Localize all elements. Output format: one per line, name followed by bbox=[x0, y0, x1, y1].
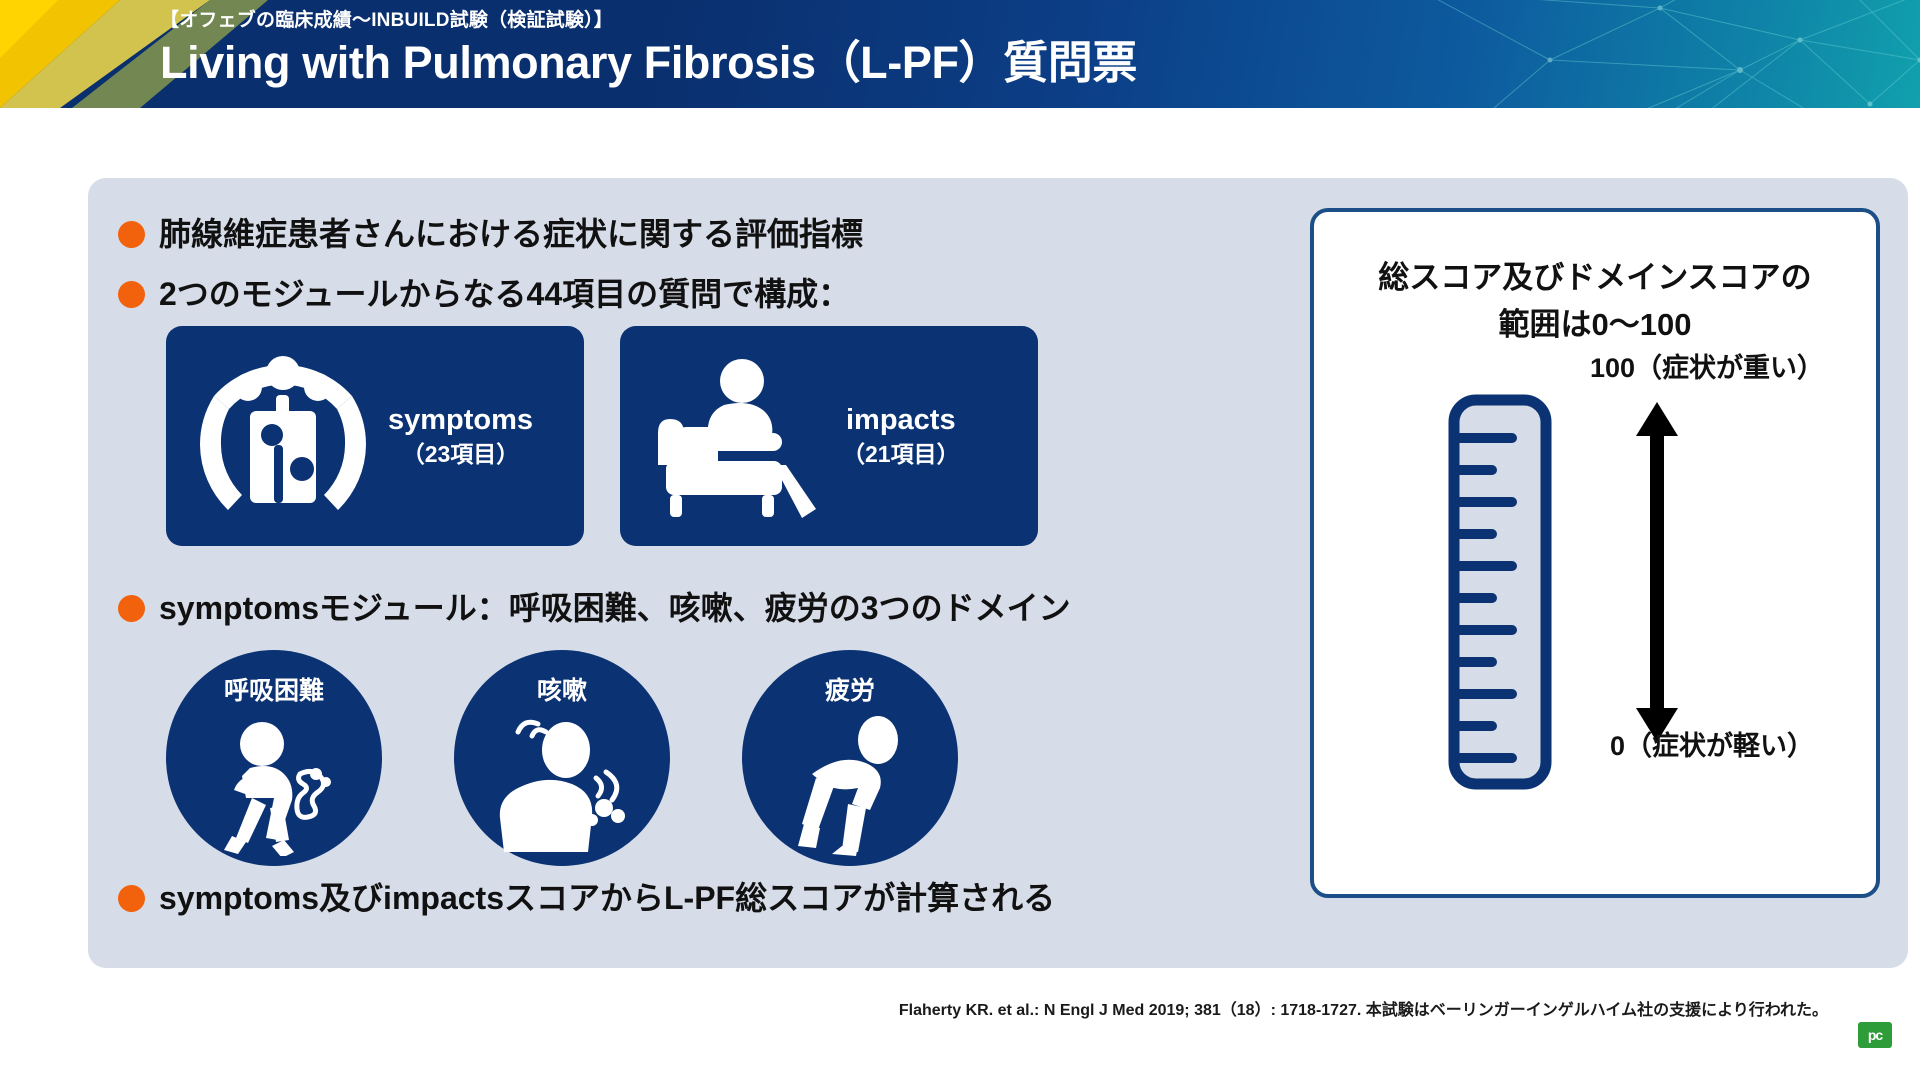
bullet-dot-icon bbox=[118, 595, 145, 622]
bullet-item-2: 2つのモジュールからなる44項目の質問で構成： bbox=[118, 274, 850, 314]
domain-circle-group: 呼吸困難 咳嗽 bbox=[166, 650, 958, 866]
domain-circle-dyspnea[interactable]: 呼吸困難 bbox=[166, 650, 382, 866]
bullet-dot-icon bbox=[118, 221, 145, 248]
bullet-label-4: symptoms及びimpactsスコアからL-PF総スコアが計算される bbox=[159, 878, 1055, 918]
network-pattern-decoration bbox=[1400, 0, 1920, 108]
bullet-item-3: symptomsモジュール：呼吸困難、咳嗽、疲労の3つのドメイン bbox=[118, 588, 1071, 628]
bullet-label-2: 2つのモジュールからなる44項目の質問で構成： bbox=[159, 274, 850, 314]
module-card-symptoms[interactable]: symptoms （23項目） bbox=[166, 326, 584, 546]
ruler-scale-icon bbox=[1446, 392, 1566, 792]
domain-label: 咳嗽 bbox=[537, 676, 587, 706]
module-card-impacts[interactable]: impacts （21項目） bbox=[620, 326, 1038, 546]
lungs-person-icon bbox=[188, 349, 378, 524]
domain-circle-fatigue[interactable]: 疲労 bbox=[742, 650, 958, 866]
score-card-title-line2: 範囲は0〜100 bbox=[1314, 301, 1876, 348]
slide-header: 【オフェブの臨床成績～INBUILD試験（検証試験）】 Living with … bbox=[0, 0, 1920, 108]
domain-circle-cough[interactable]: 咳嗽 bbox=[454, 650, 670, 866]
content-panel: 肺線維症患者さんにおける症状に関する評価指標 2つのモジュールからなる44項目の… bbox=[88, 178, 1908, 968]
score-card-title-line1: 総スコア及びドメインスコアの bbox=[1314, 254, 1876, 301]
score-card-title: 総スコア及びドメインスコアの 範囲は0〜100 bbox=[1314, 254, 1876, 348]
module-card-group: symptoms （23項目） bbox=[166, 326, 1038, 546]
bullet-dot-icon bbox=[118, 281, 145, 308]
person-in-armchair-icon bbox=[642, 349, 832, 524]
score-low-label: 0（症状が軽い） bbox=[1610, 724, 1814, 763]
bullet-item-1: 肺線維症患者さんにおける症状に関する評価指標 bbox=[118, 214, 863, 254]
module-count: （23項目） bbox=[388, 438, 533, 470]
double-headed-vertical-arrow-icon bbox=[1634, 402, 1680, 742]
header-kicker: 【オフェブの臨床成績～INBUILD試験（検証試験）】 bbox=[160, 8, 1137, 34]
slide-root: 【オフェブの臨床成績～INBUILD試験（検証試験）】 Living with … bbox=[0, 0, 1920, 1080]
score-range-card: 総スコア及びドメインスコアの 範囲は0〜100 bbox=[1310, 208, 1880, 898]
module-name: symptoms bbox=[388, 402, 533, 438]
bullet-item-4: symptoms及びimpactsスコアからL-PF総スコアが計算される bbox=[118, 878, 1055, 918]
fatigued-person-icon bbox=[742, 716, 958, 856]
header-title: Living with Pulmonary Fibrosis（L-PF）質問票 bbox=[160, 34, 1137, 92]
domain-label: 疲労 bbox=[825, 676, 875, 706]
module-name: impacts bbox=[842, 402, 960, 438]
bullet-dot-icon bbox=[118, 885, 145, 912]
bullet-label-3: symptomsモジュール：呼吸困難、咳嗽、疲労の3つのドメイン bbox=[159, 588, 1071, 628]
publisher-logo: pc bbox=[1858, 1022, 1892, 1048]
domain-label: 呼吸困難 bbox=[224, 676, 324, 706]
score-high-label: 100（症状が重い） bbox=[1590, 346, 1824, 385]
module-label-symptoms: symptoms （23項目） bbox=[388, 402, 533, 470]
breathless-person-icon bbox=[166, 716, 382, 856]
module-count: （21項目） bbox=[842, 438, 960, 470]
module-label-impacts: impacts （21項目） bbox=[842, 402, 960, 470]
citation-footer: Flaherty KR. et al.: N Engl J Med 2019; … bbox=[0, 1000, 1920, 1022]
coughing-person-icon bbox=[454, 716, 670, 856]
header-text-block: 【オフェブの臨床成績～INBUILD試験（検証試験）】 Living with … bbox=[160, 8, 1137, 92]
bullet-label-1: 肺線維症患者さんにおける症状に関する評価指標 bbox=[159, 214, 863, 254]
